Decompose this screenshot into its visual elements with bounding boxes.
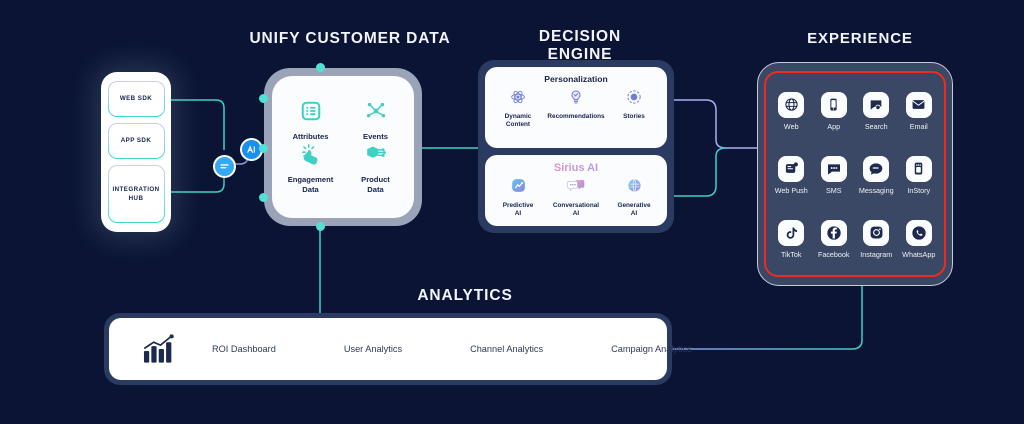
unify-product-data[interactable]: Product Data bbox=[343, 143, 408, 194]
channel-tiktok[interactable]: TikTok bbox=[778, 220, 804, 259]
web-push-icon bbox=[778, 156, 804, 182]
list-attributes-icon bbox=[300, 100, 322, 127]
unify-attributes-label: Attributes bbox=[293, 132, 329, 141]
channel-search-label: Search bbox=[865, 122, 888, 131]
diagram-canvas: UNIFY CUSTOMER DATA DECISION ENGINE EXPE… bbox=[0, 0, 1024, 424]
unify-inner-panel: Attributes Events Engagement Data bbox=[272, 76, 414, 218]
mobile-phone-icon bbox=[821, 92, 847, 118]
unify-customer-data-card: Attributes Events Engagement Data bbox=[264, 68, 422, 226]
source-integration-hub-label: INTEGRATION HUB bbox=[112, 185, 159, 204]
channel-web[interactable]: Web bbox=[778, 92, 804, 131]
unify-node-left-1 bbox=[259, 94, 268, 103]
conversational-ai-label: Conversational AI bbox=[553, 202, 599, 219]
decision-engine-card: Personalization Dynamic Content Recomm bbox=[478, 60, 674, 233]
sirius-ai-items: Predictive AI Conversational AI bbox=[489, 177, 663, 219]
globe-icon bbox=[778, 92, 804, 118]
channel-messaging[interactable]: Messaging bbox=[859, 156, 894, 195]
pred-line1: Predictive bbox=[503, 202, 534, 209]
dynamic-content-label: Dynamic Content bbox=[505, 113, 532, 130]
unify-node-left-3 bbox=[259, 193, 268, 202]
messaging-bubble-icon bbox=[863, 156, 889, 182]
channel-tiktok-label: TikTok bbox=[781, 250, 802, 259]
stories-label: Stories bbox=[623, 113, 645, 121]
unify-engagement-data[interactable]: Engagement Data bbox=[278, 143, 343, 194]
pred-line2: AI bbox=[515, 210, 521, 217]
channel-whatsapp-label: WhatsApp bbox=[902, 250, 935, 259]
sirius-ai-panel: Sirius AI Predictive AI C bbox=[485, 155, 667, 226]
dyn-line2: Content bbox=[506, 121, 530, 128]
lightbulb-recommendations-icon bbox=[568, 89, 584, 110]
unify-engagement-data-label: Engagement Data bbox=[288, 175, 334, 194]
experience-card: Web App Search Email bbox=[757, 62, 953, 286]
integration-hub-line2: HUB bbox=[129, 195, 144, 202]
unify-node-left-2 bbox=[259, 144, 268, 153]
channel-web-label: Web bbox=[784, 122, 799, 131]
generative-ai-icon bbox=[626, 177, 643, 199]
recommendations-label: Recommendations bbox=[547, 113, 604, 121]
unify-events-label: Events bbox=[363, 132, 388, 141]
channel-sms[interactable]: SMS bbox=[821, 156, 847, 195]
section-title-experience: EXPERIENCE bbox=[775, 30, 945, 47]
sirius-conversational-ai[interactable]: Conversational AI bbox=[547, 177, 605, 219]
channel-sms-label: SMS bbox=[826, 186, 842, 195]
source-app-sdk-label: APP SDK bbox=[121, 136, 152, 145]
analytics-link-user-analytics[interactable]: User Analytics bbox=[344, 344, 402, 354]
predictive-ai-label: Predictive AI bbox=[503, 202, 534, 219]
section-title-analytics: ANALYTICS bbox=[320, 287, 610, 305]
generative-ai-label: Generative AI bbox=[617, 202, 650, 219]
search-bubble-icon bbox=[863, 92, 889, 118]
section-title-decision-engine: DECISION ENGINE bbox=[500, 28, 660, 64]
source-app-sdk[interactable]: APP SDK bbox=[108, 123, 165, 159]
unify-node-top bbox=[316, 63, 325, 72]
tiktok-icon bbox=[778, 220, 804, 246]
personalization-panel: Personalization Dynamic Content Recomm bbox=[485, 67, 667, 148]
gen-line1: Generative bbox=[617, 202, 650, 209]
sirius-ai-brand: Sirius AI bbox=[489, 162, 663, 174]
channel-instagram[interactable]: Instagram bbox=[860, 220, 892, 259]
conv-line2: AI bbox=[573, 210, 579, 217]
channel-email[interactable]: Email bbox=[906, 92, 932, 131]
product-line2: Data bbox=[367, 185, 383, 194]
personalization-dynamic-content[interactable]: Dynamic Content bbox=[489, 89, 547, 130]
channel-facebook[interactable]: Facebook bbox=[818, 220, 850, 259]
section-title-unify: UNIFY CUSTOMER DATA bbox=[200, 30, 500, 48]
personalization-recommendations[interactable]: Recommendations bbox=[547, 89, 605, 121]
instagram-icon bbox=[863, 220, 889, 246]
integration-hub-line1: INTEGRATION bbox=[112, 186, 159, 193]
personalization-items: Dynamic Content Recommendations Stories bbox=[489, 89, 663, 130]
channel-instagram-label: Instagram bbox=[860, 250, 892, 259]
stories-circle-icon bbox=[626, 89, 642, 110]
envelope-icon bbox=[906, 92, 932, 118]
unify-product-data-label: Product Data bbox=[361, 175, 390, 194]
channel-search[interactable]: Search bbox=[863, 92, 889, 131]
conversational-ai-icon bbox=[567, 177, 585, 199]
product-cube-icon bbox=[365, 143, 387, 170]
engagement-line2: Data bbox=[302, 185, 318, 194]
bar-chart-trend-icon bbox=[143, 334, 176, 364]
source-web-sdk-label: WEB SDK bbox=[120, 94, 152, 103]
engagement-tap-icon bbox=[300, 143, 322, 170]
source-integration-hub[interactable]: INTEGRATION HUB bbox=[108, 165, 165, 223]
analytics-link-channel-analytics[interactable]: Channel Analytics bbox=[470, 344, 543, 354]
channel-facebook-label: Facebook bbox=[818, 250, 850, 259]
product-line1: Product bbox=[361, 175, 390, 184]
unify-events[interactable]: Events bbox=[343, 100, 408, 141]
channel-email-label: Email bbox=[910, 122, 928, 131]
analytics-inner-panel: ROI Dashboard User Analytics Channel Ana… bbox=[109, 318, 667, 380]
source-web-sdk[interactable]: WEB SDK bbox=[108, 81, 165, 117]
analytics-link-campaign-analytics[interactable]: Campaign Analytics bbox=[611, 344, 692, 354]
channel-instory-label: InStory bbox=[907, 186, 930, 195]
atom-dynamic-content-icon bbox=[510, 89, 526, 110]
sms-bubble-icon bbox=[821, 156, 847, 182]
facebook-icon bbox=[821, 220, 847, 246]
channel-instory[interactable]: InStory bbox=[906, 156, 932, 195]
gen-line2: AI bbox=[631, 210, 637, 217]
stream-circle-icon bbox=[213, 155, 236, 178]
events-network-icon bbox=[365, 100, 387, 127]
engagement-line1: Engagement bbox=[288, 175, 334, 184]
decision-title-line1: DECISION bbox=[500, 28, 660, 46]
dyn-line1: Dynamic bbox=[505, 113, 532, 120]
channel-app-label: App bbox=[827, 122, 840, 131]
conv-line1: Conversational bbox=[553, 202, 599, 209]
data-sources-card: WEB SDK APP SDK INTEGRATION HUB bbox=[101, 72, 171, 232]
whatsapp-icon bbox=[906, 220, 932, 246]
experience-channel-grid: Web App Search Email bbox=[770, 79, 940, 271]
analytics-link-roi-dashboard[interactable]: ROI Dashboard bbox=[212, 344, 276, 354]
channel-app[interactable]: App bbox=[821, 92, 847, 131]
channel-messaging-label: Messaging bbox=[859, 186, 894, 195]
channel-web-push[interactable]: Web Push bbox=[775, 156, 808, 195]
instory-icon bbox=[906, 156, 932, 182]
unify-attributes[interactable]: Attributes bbox=[278, 100, 343, 141]
unify-node-bottom bbox=[316, 222, 325, 231]
sirius-predictive-ai[interactable]: Predictive AI bbox=[489, 177, 547, 219]
channel-web-push-label: Web Push bbox=[775, 186, 808, 195]
personalization-stories[interactable]: Stories bbox=[605, 89, 663, 121]
analytics-card: ROI Dashboard User Analytics Channel Ana… bbox=[104, 313, 672, 385]
personalization-heading: Personalization bbox=[489, 74, 663, 84]
channel-whatsapp[interactable]: WhatsApp bbox=[902, 220, 935, 259]
sirius-generative-ai[interactable]: Generative AI bbox=[605, 177, 663, 219]
predictive-ai-icon bbox=[510, 177, 527, 199]
